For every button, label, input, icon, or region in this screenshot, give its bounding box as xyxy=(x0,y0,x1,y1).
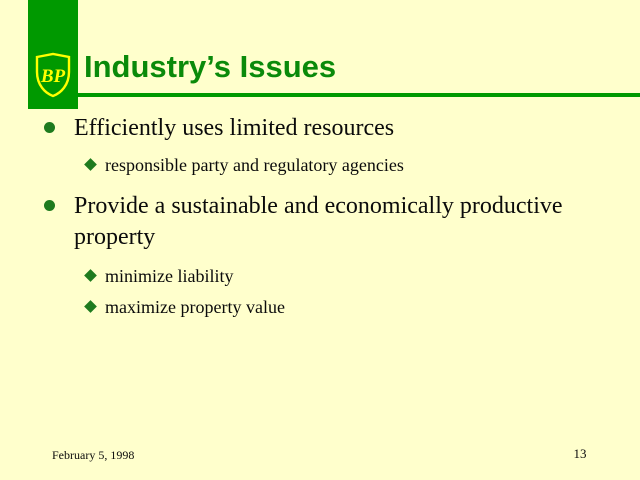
spacer xyxy=(0,253,640,264)
footer-date: February 5, 1998 xyxy=(52,448,134,463)
bullet-circle-icon xyxy=(44,200,55,211)
bullet-level2: responsible party and regulatory agencie… xyxy=(0,153,640,177)
spacer xyxy=(0,288,640,295)
svg-text:BP: BP xyxy=(40,66,66,87)
bullet-text: responsible party and regulatory agencie… xyxy=(105,153,600,177)
slide-body: Efficiently uses limited resources respo… xyxy=(0,113,640,433)
bullet-circle-icon xyxy=(44,122,55,133)
bullet-level1: Provide a sustainable and economically p… xyxy=(0,191,640,253)
bullet-level1: Efficiently uses limited resources xyxy=(0,113,640,144)
spacer xyxy=(0,144,640,153)
slide-canvas: BP Industry’s Issues Efficiently uses li… xyxy=(0,0,640,480)
bullet-level2: minimize liability xyxy=(0,264,640,288)
bullet-diamond-icon xyxy=(84,158,97,171)
header-divider-rule xyxy=(78,93,640,97)
page-title: Industry’s Issues xyxy=(84,47,630,91)
bullet-diamond-icon xyxy=(84,269,97,282)
bp-shield-logo-icon: BP xyxy=(33,52,73,98)
bullet-level2: maximize property value xyxy=(0,295,640,319)
bullet-text: Efficiently uses limited resources xyxy=(74,113,586,144)
bullet-text: Provide a sustainable and economically p… xyxy=(74,191,586,253)
bullet-text: minimize liability xyxy=(105,264,600,288)
bullet-text: maximize property value xyxy=(105,295,600,319)
footer-page-number: 13 xyxy=(560,446,600,462)
bullet-diamond-icon xyxy=(84,300,97,313)
spacer xyxy=(0,177,640,191)
